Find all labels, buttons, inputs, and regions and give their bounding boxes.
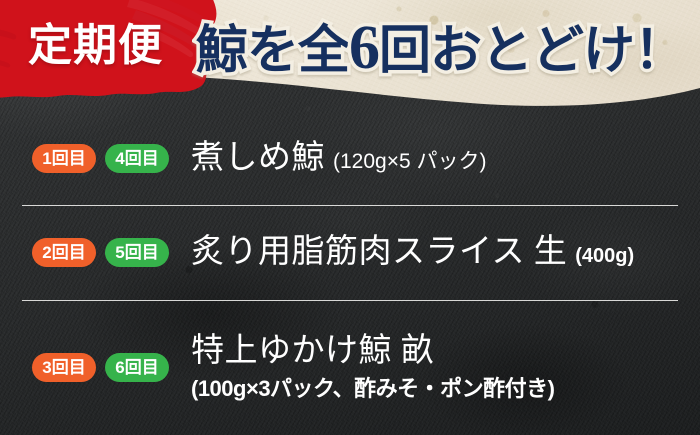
product-name: 特上ゆかけ鯨 畝 (191, 333, 434, 370)
badge-label-teikibin: 定期便 (28, 24, 208, 68)
title-delivery-count: 6 (349, 14, 379, 82)
product-name: 炙り用脂筋肉スライス 生 (191, 234, 567, 271)
delivery-badge-second: 4回目 (105, 144, 169, 173)
product-quantity: (120g×5 パック) (333, 151, 486, 172)
product-line: 煮しめ鯨 (120g×5 パック) (191, 140, 700, 177)
product-quantity: (400g) (575, 246, 634, 266)
delivery-badges: 3回目 6回目 (32, 353, 169, 382)
page-title: 鯨を全6回おとどけ！ (196, 17, 685, 79)
delivery-badge-second: 5回目 (105, 238, 169, 267)
product-row: 3回目 6回目 特上ゆかけ鯨 畝 (100g×3パック、酢みそ・ポン酢付き) (0, 300, 700, 435)
row-divider (22, 300, 678, 301)
product-line: 炙り用脂筋肉スライス 生 (400g) (191, 234, 700, 271)
product-line: 特上ゆかけ鯨 畝 (191, 333, 700, 370)
delivery-badge-second: 6回目 (105, 353, 169, 382)
product-name: 煮しめ鯨 (191, 140, 325, 177)
product-details: 特上ゆかけ鯨 畝 (100g×3パック、酢みそ・ポン酢付き) (191, 333, 700, 401)
product-row: 2回目 5回目 炙り用脂筋肉スライス 生 (400g) (0, 205, 700, 300)
title-prefix: 鯨を全 (196, 23, 349, 80)
delivery-badge-first: 2回目 (32, 238, 96, 267)
row-divider (22, 205, 678, 206)
product-list: 1回目 4回目 煮しめ鯨 (120g×5 パック) 2回目 5回目 炙り用脂筋肉… (0, 112, 700, 435)
subscription-banner: 定期便 鯨を全6回おとどけ！ 1回目 4回目 煮しめ鯨 (120g×5 パック)… (0, 0, 700, 435)
product-details: 煮しめ鯨 (120g×5 パック) (191, 140, 700, 177)
delivery-badge-first: 3回目 (32, 353, 96, 382)
delivery-badges: 2回目 5回目 (32, 238, 169, 267)
product-row: 1回目 4回目 煮しめ鯨 (120g×5 パック) (0, 112, 700, 205)
delivery-badges: 1回目 4回目 (32, 144, 169, 173)
delivery-badge-first: 1回目 (32, 144, 96, 173)
product-quantity: (100g×3パック、酢みそ・ポン酢付き) (191, 377, 700, 401)
product-details: 炙り用脂筋肉スライス 生 (400g) (191, 234, 700, 271)
title-suffix: 回おとどけ！ (379, 23, 685, 80)
